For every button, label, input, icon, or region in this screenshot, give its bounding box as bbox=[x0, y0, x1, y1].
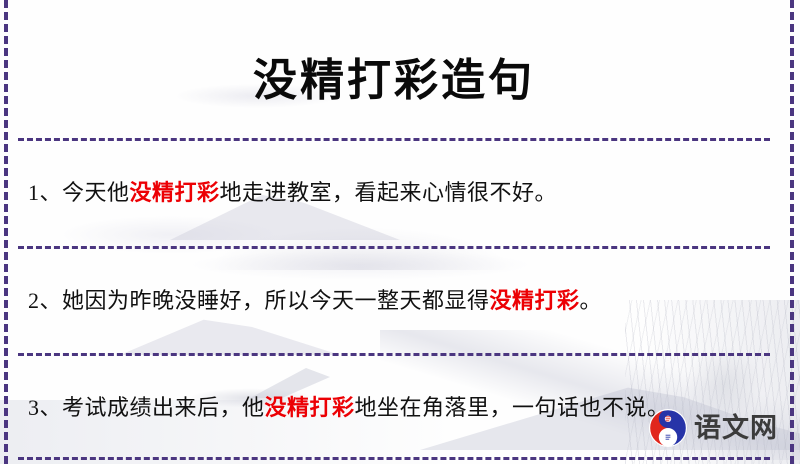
page-border-left bbox=[4, 0, 8, 464]
document-page: 没精打彩造句 1、今天他没精打彩地走进教室，看起来心情很不好。 2、她因为昨晚没… bbox=[0, 0, 800, 464]
site-logo[interactable]: 语文网 bbox=[648, 408, 778, 448]
site-logo-text: 语文网 bbox=[694, 415, 778, 442]
sentence-3-before: 考试成绩出来后，他 bbox=[62, 395, 265, 420]
sentence-3-after: 地坐在角落里，一句话也不说。 bbox=[355, 395, 670, 420]
sentence-1-after: 地走进教室，看起来心情很不好。 bbox=[220, 180, 558, 205]
divider-after-sentence-2 bbox=[18, 353, 770, 356]
sentence-3-index: 3、 bbox=[28, 395, 62, 420]
divider-top bbox=[18, 138, 770, 141]
divider-bottom bbox=[18, 457, 770, 460]
divider-after-sentence-1 bbox=[18, 246, 770, 249]
sentence-item-2: 2、她因为昨晚没睡好，所以今天一整天都显得没精打彩。 bbox=[18, 271, 770, 331]
page-title: 没精打彩造句 bbox=[18, 29, 770, 108]
document-content: 没精打彩造句 1、今天他没精打彩地走进教室，看起来心情很不好。 2、她因为昨晚没… bbox=[0, 29, 800, 459]
sentence-2-keyword: 没精打彩 bbox=[490, 288, 580, 313]
sentence-2-before: 她因为昨晚没睡好，所以今天一整天都显得 bbox=[62, 288, 490, 313]
sentence-1-index: 1、 bbox=[28, 180, 62, 205]
sentence-2-index: 2、 bbox=[28, 288, 62, 313]
page-border-right bbox=[790, 0, 794, 464]
sentence-2-after: 。 bbox=[580, 288, 603, 313]
sentence-item-1: 1、今天他没精打彩地走进教室，看起来心情很不好。 bbox=[18, 163, 770, 224]
yinyang-circle-icon bbox=[648, 408, 688, 448]
sentence-3-keyword: 没精打彩 bbox=[265, 395, 355, 420]
sentence-1-keyword: 没精打彩 bbox=[130, 180, 220, 205]
sentence-1-before: 今天他 bbox=[62, 180, 130, 205]
